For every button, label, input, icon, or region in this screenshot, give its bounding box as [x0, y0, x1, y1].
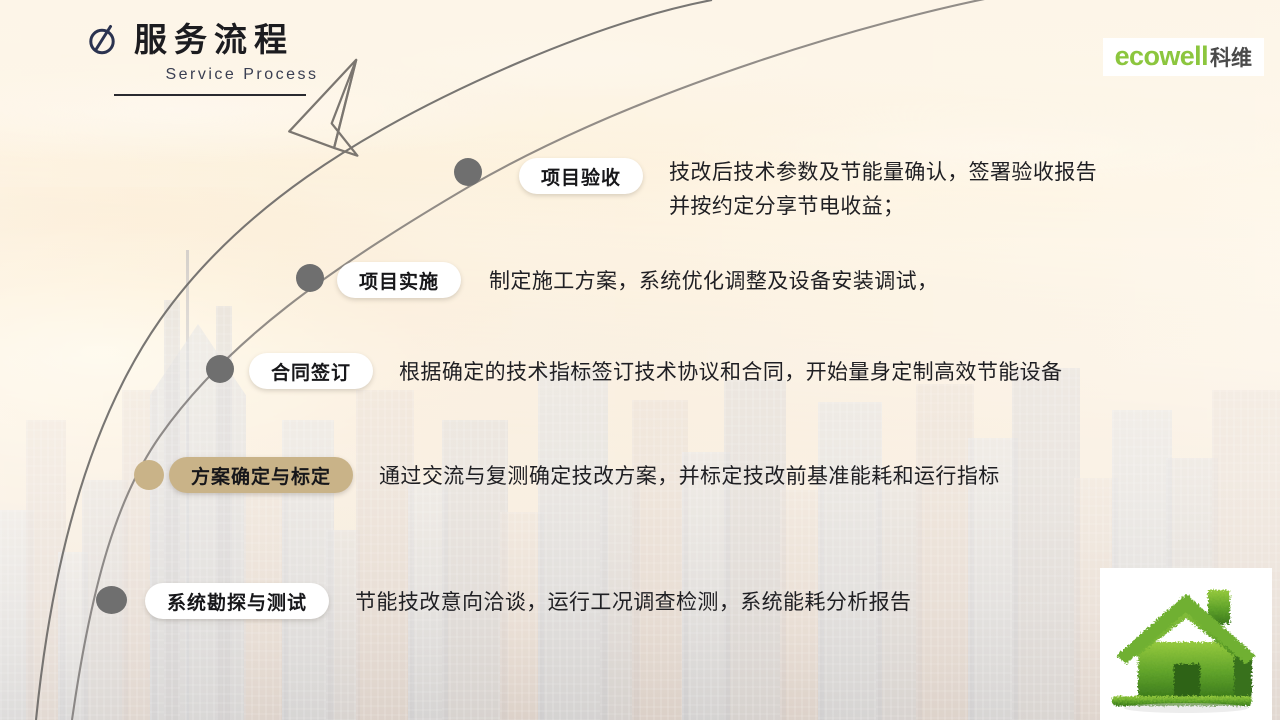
circle-slash-icon — [86, 22, 120, 56]
step-label-pill-3[interactable]: 合同签订 — [249, 353, 373, 389]
step-description-line: 制定施工方案，系统优化调整及设备安装调试， — [489, 265, 938, 299]
process-step-4: 方案确定与标定 通过交流与复测确定技改方案，并标定技改前基准能耗和运行指标 — [169, 457, 1000, 494]
process-step-3: 合同签订 根据确定的技术指标签订技术协议和合同，开始量身定制高效节能设备 — [249, 353, 1062, 390]
step-description-line: 通过交流与复测确定技改方案，并标定技改前基准能耗和运行指标 — [379, 460, 1000, 494]
process-step-1: 项目验收 技改后技术参数及节能量确认，签署验收报告 并按约定分享节电收益； — [519, 158, 1097, 224]
step-description-4: 通过交流与复测确定技改方案，并标定技改前基准能耗和运行指标 — [379, 460, 1000, 494]
node-dot-step-5[interactable] — [96, 586, 127, 614]
step-label-pill-1[interactable]: 项目验收 — [519, 158, 643, 194]
node-dot-step-4[interactable] — [134, 460, 164, 490]
logo-latin-text: ecowell — [1115, 43, 1208, 70]
logo-chinese-text: 科维 — [1210, 48, 1252, 69]
step-label-pill-5[interactable]: 系统勘探与测试 — [145, 583, 329, 619]
step-description-line: 节能技改意向洽谈，运行工况调查检测，系统能耗分析报告 — [355, 586, 911, 620]
step-description-line: 根据确定的技术指标签订技术协议和合同，开始量身定制高效节能设备 — [399, 356, 1062, 390]
node-dot-step-2[interactable] — [296, 264, 324, 292]
node-dot-step-3[interactable] — [206, 355, 234, 383]
step-description-2: 制定施工方案，系统优化调整及设备安装调试， — [489, 265, 938, 299]
page-subtitle: Service Process — [86, 66, 416, 84]
page-header: 服务流程 Service Process — [86, 22, 416, 96]
company-logo: ecowell 科维 — [1103, 38, 1264, 76]
step-label-pill-2[interactable]: 项目实施 — [337, 262, 461, 298]
page-title: 服务流程 — [134, 23, 294, 56]
step-description-1: 技改后技术参数及节能量确认，签署验收报告 并按约定分享节电收益； — [669, 156, 1097, 224]
step-description-line: 技改后技术参数及节能量确认，签署验收报告 — [669, 156, 1097, 190]
title-row: 服务流程 — [86, 22, 416, 56]
process-step-5: 系统勘探与测试 节能技改意向洽谈，运行工况调查检测，系统能耗分析报告 — [145, 583, 911, 620]
green-house-image — [1100, 568, 1272, 720]
process-step-2: 项目实施 制定施工方案，系统优化调整及设备安装调试， — [337, 262, 938, 299]
green-grass-house-icon — [1100, 568, 1272, 720]
step-description-5: 节能技改意向洽谈，运行工况调查检测，系统能耗分析报告 — [355, 586, 911, 620]
slide-service-process: 服务流程 Service Process ecowell 科维 项目验收 技改后… — [0, 0, 1280, 720]
node-dot-step-1[interactable] — [454, 158, 482, 186]
title-underline — [114, 94, 306, 96]
step-label-pill-4[interactable]: 方案确定与标定 — [169, 457, 353, 493]
step-description-line: 并按约定分享节电收益； — [669, 190, 1097, 224]
step-description-3: 根据确定的技术指标签订技术协议和合同，开始量身定制高效节能设备 — [399, 356, 1062, 390]
